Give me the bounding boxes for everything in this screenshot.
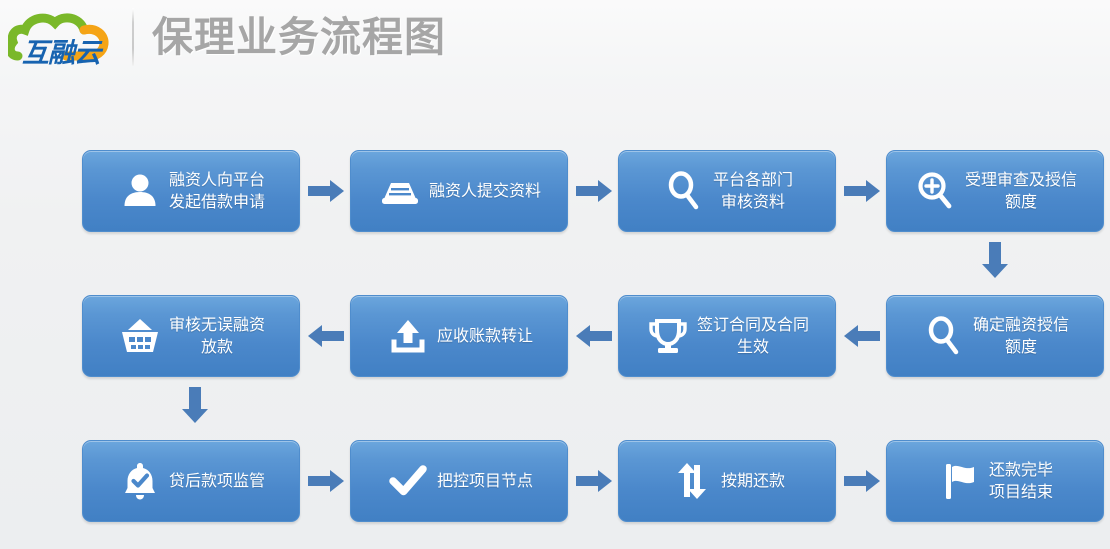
magnifier-icon — [661, 168, 707, 214]
upload-icon — [385, 313, 431, 359]
flowchart-canvas: 融资人向平台 发起借款申请融资人提交资料平台各部门 审核资料受理审查及授信 额度… — [0, 84, 1110, 549]
flow-node-n11[interactable]: 按期还款 — [618, 440, 836, 522]
flow-node-label: 把控项目节点 — [437, 470, 533, 492]
exchange-arrows-icon — [669, 458, 715, 504]
flow-node-n2[interactable]: 融资人提交资料 — [350, 150, 568, 232]
flow-node-label: 确定融资授信 额度 — [973, 314, 1069, 358]
page-title: 保理业务流程图 — [152, 8, 446, 66]
connector-arrow-right-a9 — [308, 470, 344, 492]
flow-node-label: 平台各部门 审核资料 — [713, 169, 793, 213]
header-divider — [132, 8, 134, 66]
flow-node-n4[interactable]: 受理审查及授信 额度 — [886, 150, 1104, 232]
flow-node-n5[interactable]: 审核无误融资 放款 — [82, 295, 300, 377]
connector-arrow-right-a10 — [576, 470, 612, 492]
svg-text:互融云: 互融云 — [22, 38, 104, 68]
connector-arrow-down-a4 — [982, 242, 1008, 278]
hurongyun-cloud-logo: 互融云 — [8, 6, 126, 68]
connector-arrow-right-a3 — [844, 180, 880, 202]
trophy-icon — [645, 313, 691, 359]
flow-node-label: 按期还款 — [721, 470, 785, 492]
flow-node-label: 应收账款转让 — [437, 325, 533, 347]
flow-node-n3[interactable]: 平台各部门 审核资料 — [618, 150, 836, 232]
flow-node-n8[interactable]: 确定融资授信 额度 — [886, 295, 1104, 377]
connector-arrow-left-a6 — [576, 325, 612, 347]
flow-node-label: 签订合同及合同 生效 — [697, 314, 809, 358]
flow-node-n7[interactable]: 签订合同及合同 生效 — [618, 295, 836, 377]
connector-arrow-down-a8 — [182, 387, 208, 423]
flag-icon — [937, 458, 983, 504]
connector-arrow-right-a11 — [844, 470, 880, 492]
flow-node-label: 审核无误融资 放款 — [169, 314, 265, 358]
inbox-tray-icon — [377, 168, 423, 214]
flow-node-label: 贷后款项监管 — [169, 470, 265, 492]
flow-node-n6[interactable]: 应收账款转让 — [350, 295, 568, 377]
flow-node-label: 融资人提交资料 — [429, 180, 541, 202]
page-header: 互融云 保理业务流程图 — [0, 0, 1110, 84]
connector-arrow-right-a1 — [308, 180, 344, 202]
user-icon — [117, 168, 163, 214]
magnifier-plus-icon — [913, 168, 959, 214]
flow-node-n10[interactable]: 把控项目节点 — [350, 440, 568, 522]
connector-arrow-left-a7 — [308, 325, 344, 347]
flow-node-n9[interactable]: 贷后款项监管 — [82, 440, 300, 522]
magnifier-icon — [921, 313, 967, 359]
connector-arrow-left-a5 — [844, 325, 880, 347]
connector-arrow-right-a2 — [576, 180, 612, 202]
bell-check-icon — [117, 458, 163, 504]
flow-node-label: 还款完毕 项目结束 — [989, 459, 1053, 503]
flow-node-n12[interactable]: 还款完毕 项目结束 — [886, 440, 1104, 522]
flow-node-n1[interactable]: 融资人向平台 发起借款申请 — [82, 150, 300, 232]
flow-node-label: 受理审查及授信 额度 — [965, 169, 1077, 213]
checkmark-icon — [385, 458, 431, 504]
flow-node-label: 融资人向平台 发起借款申请 — [169, 169, 265, 213]
basket-icon — [117, 313, 163, 359]
